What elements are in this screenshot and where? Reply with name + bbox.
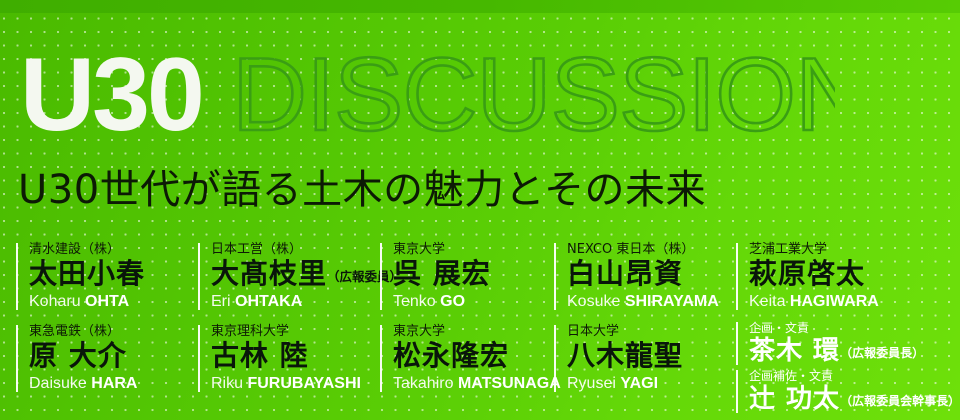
credit-card: 企画・文責 茶木 環（広報委員長） [736, 322, 958, 365]
participant-name-jp-text: 八木龍聖 [567, 339, 683, 372]
participant-name-jp: 大髙枝里（広報委員） [211, 259, 378, 289]
participant-name-jp-text: 呉 展宏 [393, 257, 491, 290]
participant-family-name: MATSUNAGA [458, 375, 561, 392]
participant-family-name: YAGI [620, 375, 658, 392]
participant-name-jp: 八木龍聖 [567, 341, 730, 371]
credit-name-jp: 茶木 環（広報委員長） [749, 337, 958, 365]
svg-text:U30: U30 [20, 46, 202, 148]
participant-name-en: Tenko GO [393, 294, 552, 310]
participant-name-jp: 太田小春 [29, 259, 194, 289]
credit-title: （広報委員会幹事長） [840, 394, 960, 408]
participant-affiliation: 東京大学 [393, 325, 552, 338]
participant-family-name: FURUBAYASHI [247, 375, 361, 392]
participant-name-jp: 松永隆宏 [393, 341, 552, 371]
participant-name-jp-text: 松永隆宏 [393, 339, 509, 372]
participant-family-name: HAGIWARA [790, 293, 879, 310]
participant-name-en: Kosuke SHIRAYAMA [567, 294, 730, 310]
participant-family-name: SHIRAYAMA [625, 293, 719, 310]
participant-name-en: Eri OHTAKA [211, 294, 378, 310]
participant-name-jp-text: 原 大介 [29, 339, 127, 372]
participant-card: 東京大学 呉 展宏 Tenko GO [380, 243, 552, 310]
credit-title: （広報委員長） [840, 346, 924, 360]
participant-name-jp-text: 萩原啓太 [749, 257, 865, 290]
participant-card: 芝浦工業大学 萩原啓太 Keita HAGIWARA [736, 243, 956, 310]
participant-given-name: Takahiro [393, 375, 453, 392]
participant-affiliation: 東急電鉄（株） [29, 325, 194, 338]
credit-role-label: 企画補佐・文責 [749, 370, 958, 382]
participant-name-jp: 原 大介 [29, 341, 194, 371]
participant-affiliation: NEXCO 東日本（株） [567, 243, 730, 256]
participant-name-jp: 白山昂資 [567, 259, 730, 289]
participant-name-en: Daisuke HARA [29, 376, 194, 392]
participant-affiliation: 日本工営（株） [211, 243, 378, 256]
participant-given-name: Ryusei [567, 375, 616, 392]
participant-name-en: Keita HAGIWARA [749, 294, 956, 310]
participant-card: 日本工営（株） 大髙枝里（広報委員） Eri OHTAKA [198, 243, 378, 310]
svg-text:DISCUSSION: DISCUSSION [232, 46, 835, 148]
participant-name-en: Koharu OHTA [29, 294, 194, 310]
participant-name-en: Riku FURUBAYASHI [211, 376, 378, 392]
logo-lockup: U30 DISCUSSION U30 DISCUSSION [20, 46, 835, 148]
participant-family-name: GO [440, 293, 465, 310]
participant-card: 東急電鉄（株） 原 大介 Daisuke HARA [16, 325, 194, 392]
participant-affiliation: 芝浦工業大学 [749, 243, 956, 256]
participant-card: NEXCO 東日本（株） 白山昂資 Kosuke SHIRAYAMA [554, 243, 730, 310]
participant-name-jp-text: 古林 陸 [211, 339, 309, 372]
credit-card: 企画補佐・文責 辻 功太（広報委員会幹事長） [736, 370, 958, 413]
participant-card: 東京大学 松永隆宏 Takahiro MATSUNAGA [380, 325, 552, 392]
u30-discussion-banner: U30 DISCUSSION U30 DISCUSSION U30世代が語る土木… [0, 0, 960, 420]
participant-given-name: Tenko [393, 293, 436, 310]
participant-given-name: Keita [749, 293, 785, 310]
credit-name-jp-text: 辻 功太 [749, 384, 840, 414]
participant-given-name: Daisuke [29, 375, 87, 392]
participant-given-name: Koharu [29, 293, 81, 310]
participant-card: 清水建設（株） 太田小春 Koharu OHTA [16, 243, 194, 310]
participant-name-jp-text: 太田小春 [29, 257, 145, 290]
participant-given-name: Kosuke [567, 293, 620, 310]
participant-name-jp-text: 白山昂資 [567, 257, 683, 290]
participant-family-name: OHTA [85, 293, 129, 310]
top-accent-band [0, 0, 960, 13]
participant-affiliation: 日本大学 [567, 325, 730, 338]
participant-name-en: Ryusei YAGI [567, 376, 730, 392]
participant-affiliation: 東京大学 [393, 243, 552, 256]
credit-name-jp-text: 茶木 環 [749, 336, 840, 366]
participant-family-name: HARA [91, 375, 137, 392]
participant-family-name: OHTAKA [235, 293, 302, 310]
participant-affiliation: 東京理科大学 [211, 325, 378, 338]
participant-name-jp: 呉 展宏 [393, 259, 552, 289]
participant-name-en: Takahiro MATSUNAGA [393, 376, 552, 392]
participant-name-jp: 古林 陸 [211, 341, 378, 371]
participant-name-jp: 萩原啓太 [749, 259, 956, 289]
credit-name-jp: 辻 功太（広報委員会幹事長） [749, 385, 958, 413]
credit-role-label: 企画・文責 [749, 322, 958, 334]
participant-name-jp-text: 大髙枝里 [211, 257, 327, 290]
participant-card: 東京理科大学 古林 陸 Riku FURUBAYASHI [198, 325, 378, 392]
participant-card: 日本大学 八木龍聖 Ryusei YAGI [554, 325, 730, 392]
banner-subtitle: U30世代が語る土木の魅力とその未来 [18, 157, 706, 215]
participant-affiliation: 清水建設（株） [29, 243, 194, 256]
participant-given-name: Eri [211, 293, 231, 310]
participant-given-name: Riku [211, 375, 243, 392]
